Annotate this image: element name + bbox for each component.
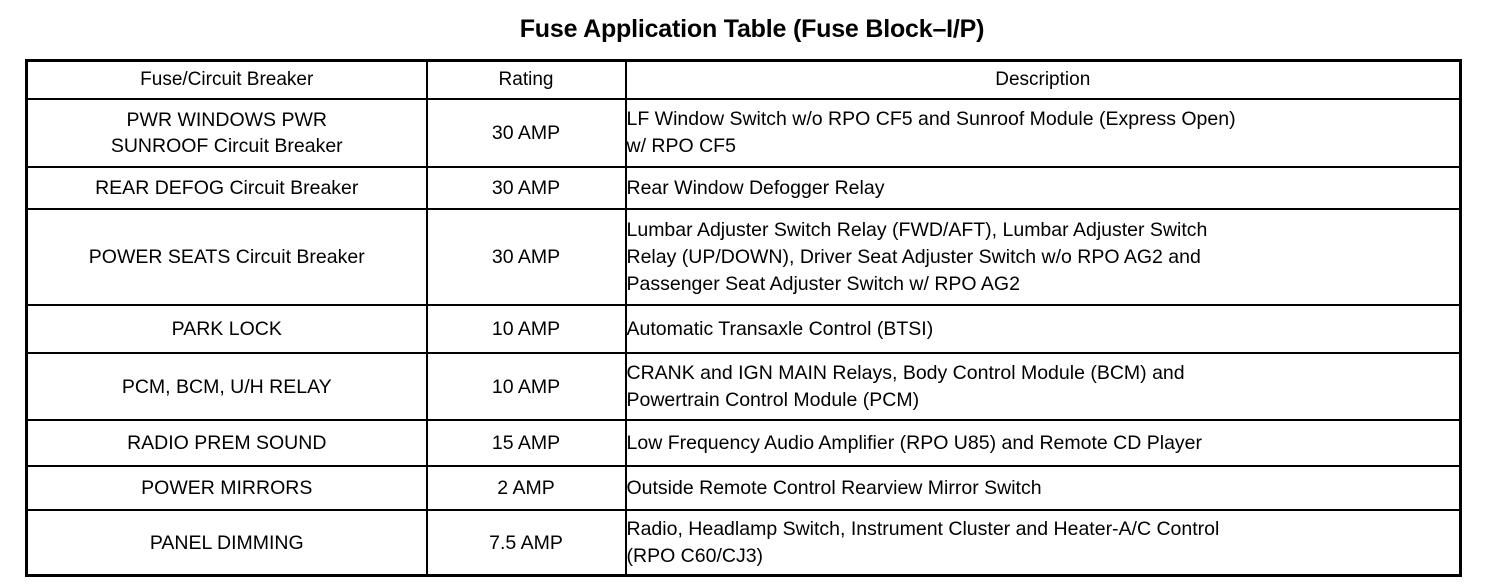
cell-description-line: CRANK and IGN MAIN Relays, Body Control … — [627, 360, 1460, 387]
cell-description: Lumbar Adjuster Switch Relay (FWD/AFT), … — [626, 209, 1461, 305]
cell-description: Automatic Transaxle Control (BTSI) — [626, 305, 1461, 353]
cell-rating: 2 AMP — [427, 466, 626, 510]
cell-description-line: (RPO C60/CJ3) — [627, 543, 1460, 570]
cell-description: Outside Remote Control Rearview Mirror S… — [626, 466, 1461, 510]
cell-rating: 7.5 AMP — [427, 510, 626, 576]
page-title: Fuse Application Table (Fuse Block–I/P) — [0, 15, 1504, 44]
cell-description: LF Window Switch w/o RPO CF5 and Sunroof… — [626, 99, 1461, 167]
cell-rating: 30 AMP — [427, 167, 626, 209]
cell-fuse-circuit-breaker: REAR DEFOG Circuit Breaker — [27, 167, 427, 209]
cell-fuse-circuit-breaker-line: SUNROOF Circuit Breaker — [28, 133, 426, 159]
cell-description-line: Powertrain Control Module (PCM) — [627, 387, 1460, 414]
cell-description-line: Passenger Seat Adjuster Switch w/ RPO AG… — [627, 271, 1460, 298]
cell-fuse-circuit-breaker: PWR WINDOWS PWRSUNROOF Circuit Breaker — [27, 99, 427, 167]
cell-fuse-circuit-breaker: PARK LOCK — [27, 305, 427, 353]
cell-description: Low Frequency Audio Amplifier (RPO U85) … — [626, 420, 1461, 466]
cell-description-line: w/ RPO CF5 — [627, 133, 1460, 160]
cell-description-line: Radio, Headlamp Switch, Instrument Clust… — [627, 516, 1460, 543]
cell-fuse-circuit-breaker-line: PWR WINDOWS PWR — [28, 107, 426, 133]
cell-description-line: LF Window Switch w/o RPO CF5 and Sunroof… — [627, 106, 1460, 133]
table-row: PARK LOCK10 AMPAutomatic Transaxle Contr… — [27, 305, 1461, 353]
column-header-description: Description — [626, 61, 1461, 100]
cell-fuse-circuit-breaker: POWER MIRRORS — [27, 466, 427, 510]
column-header-rating: Rating — [427, 61, 626, 100]
table-header: Fuse/Circuit Breaker Rating Description — [27, 61, 1461, 100]
cell-rating: 10 AMP — [427, 353, 626, 420]
cell-description: Rear Window Defogger Relay — [626, 167, 1461, 209]
cell-rating: 30 AMP — [427, 99, 626, 167]
cell-fuse-circuit-breaker: POWER SEATS Circuit Breaker — [27, 209, 427, 305]
cell-rating: 15 AMP — [427, 420, 626, 466]
table-row: PANEL DIMMING7.5 AMPRadio, Headlamp Swit… — [27, 510, 1461, 576]
table-header-row: Fuse/Circuit Breaker Rating Description — [27, 61, 1461, 100]
cell-fuse-circuit-breaker: RADIO PREM SOUND — [27, 420, 427, 466]
table-body: PWR WINDOWS PWRSUNROOF Circuit Breaker30… — [27, 99, 1461, 576]
cell-description: Radio, Headlamp Switch, Instrument Clust… — [626, 510, 1461, 576]
cell-fuse-circuit-breaker: PANEL DIMMING — [27, 510, 427, 576]
table-row: REAR DEFOG Circuit Breaker30 AMPRear Win… — [27, 167, 1461, 209]
cell-description-line: Relay (UP/DOWN), Driver Seat Adjuster Sw… — [627, 244, 1460, 271]
cell-description: CRANK and IGN MAIN Relays, Body Control … — [626, 353, 1461, 420]
cell-rating: 10 AMP — [427, 305, 626, 353]
table-row: POWER SEATS Circuit Breaker30 AMPLumbar … — [27, 209, 1461, 305]
table-row: PCM, BCM, U/H RELAY10 AMPCRANK and IGN M… — [27, 353, 1461, 420]
cell-description-line: Lumbar Adjuster Switch Relay (FWD/AFT), … — [627, 217, 1460, 244]
page-root: Fuse Application Table (Fuse Block–I/P) … — [0, 0, 1504, 586]
table-row: PWR WINDOWS PWRSUNROOF Circuit Breaker30… — [27, 99, 1461, 167]
column-header-fuse-circuit-breaker: Fuse/Circuit Breaker — [27, 61, 427, 100]
cell-rating: 30 AMP — [427, 209, 626, 305]
cell-fuse-circuit-breaker: PCM, BCM, U/H RELAY — [27, 353, 427, 420]
table-row: RADIO PREM SOUND15 AMPLow Frequency Audi… — [27, 420, 1461, 466]
table-row: POWER MIRRORS2 AMPOutside Remote Control… — [27, 466, 1461, 510]
fuse-application-table: Fuse/Circuit Breaker Rating Description … — [25, 59, 1462, 577]
